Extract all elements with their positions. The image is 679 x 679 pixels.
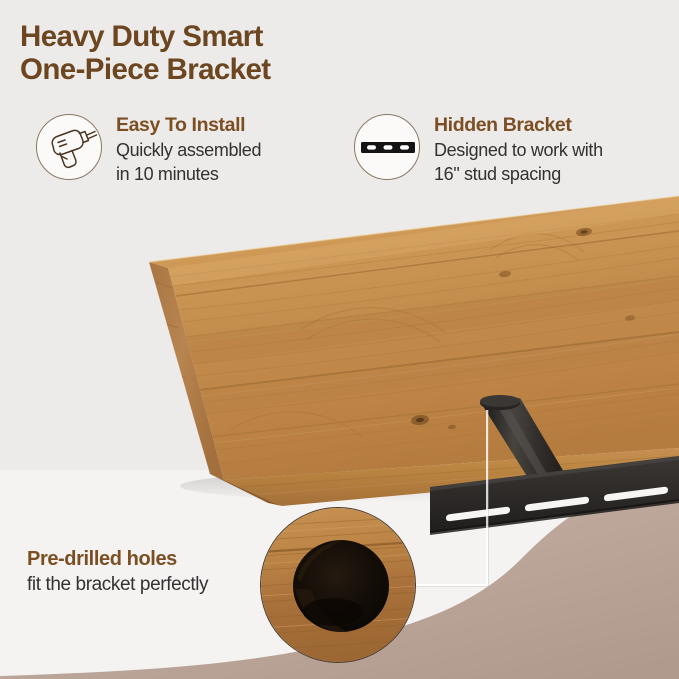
pre-drilled-holes-caption: Pre-drilled holes fit the bracket perfec… [27,548,208,596]
page-title: Heavy Duty Smart One-Piece Bracket [20,20,271,86]
product-infographic: Heavy Duty Smart One-Piece Bracket [0,0,679,679]
pre-drilled-hole-magnifier [260,507,416,663]
feature-body: Designed to work with 16" stud spacing [434,139,603,187]
caption-title: Pre-drilled holes [27,548,208,571]
feature-title: Easy To Install [116,114,261,136]
drill-icon-circle [36,114,102,180]
feature-body: Quickly assembled in 10 minutes [116,139,261,187]
feature-easy-to-install: Easy To Install Quickly assembled in 10 … [36,110,261,187]
flat-bracket-icon [349,109,427,187]
feature-title: Hidden Bracket [434,114,603,136]
drill-icon [31,109,109,187]
flat-bracket-icon-circle [354,114,420,180]
drilled-hole [293,540,389,632]
caption-body: fit the bracket perfectly [27,574,208,596]
feature-hidden-bracket: Hidden Bracket Designed to work with 16"… [354,110,603,187]
